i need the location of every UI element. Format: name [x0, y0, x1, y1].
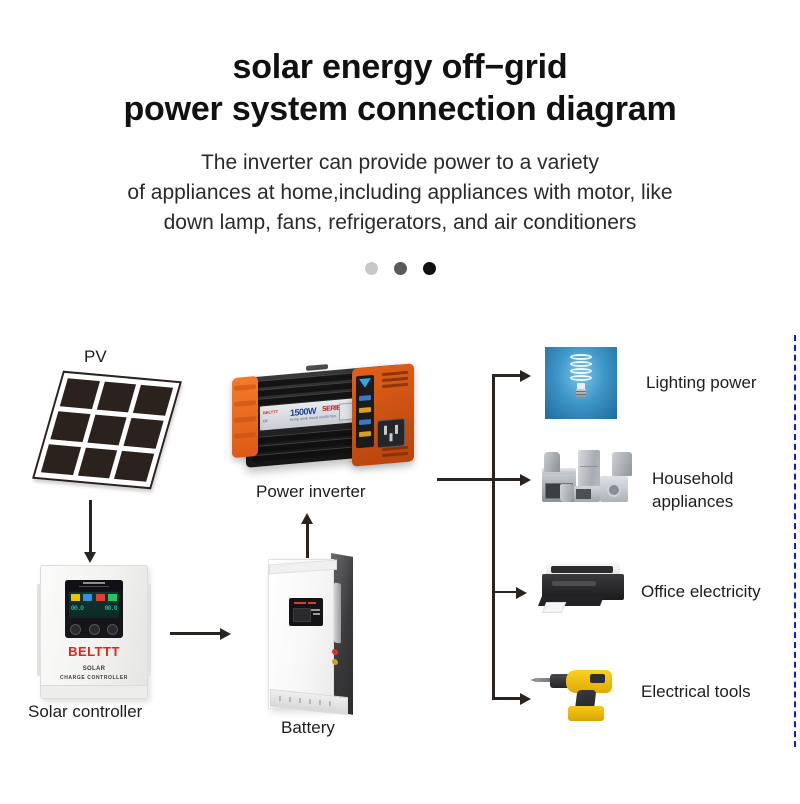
bus-to-lighting-arrowhead	[520, 370, 531, 382]
inverter-vent	[382, 377, 408, 382]
inverter-switch[interactable]	[359, 419, 371, 425]
controller-lcd-value-row: 00.0 00.0	[71, 605, 117, 612]
controller-button-row	[70, 624, 118, 635]
pv-solar-panel-icon	[38, 372, 188, 497]
pagination-dot-3[interactable]	[423, 262, 436, 275]
controller-lcd-solar-icon	[71, 594, 80, 601]
right-edge-dashed-divider	[794, 335, 796, 747]
controller-lcd-flow-icon	[83, 594, 92, 601]
battery-label: Battery	[281, 718, 335, 738]
pv-cell	[60, 378, 100, 409]
pagination-dot-2[interactable]	[394, 262, 407, 275]
inverter-vent	[382, 452, 408, 457]
bus-to-household-arrowhead	[520, 474, 531, 486]
battery-to-inverter-wire	[306, 524, 309, 558]
inverter-ac-outlet	[377, 418, 405, 448]
page-title-line-1: solar energy off−grid	[0, 46, 800, 88]
controller-lcd-left-value: 00.0	[71, 605, 83, 612]
controller-lcd: 00.0 00.0	[69, 592, 119, 618]
pagination-dot-1[interactable]	[365, 262, 378, 275]
solar-controller-label: Solar controller	[28, 702, 142, 722]
pv-to-controller-arrowhead	[84, 552, 96, 563]
controller-display: 00.0 00.0	[65, 580, 123, 638]
controller-display-brandmark	[83, 582, 105, 584]
controller-base	[41, 685, 147, 698]
drill-vent	[590, 674, 605, 683]
drill-battery-pack	[568, 706, 604, 721]
controller-lcd-load-icon	[108, 594, 117, 601]
battery-terminal-rail	[334, 582, 341, 643]
page-subtitle: The inverter can provide power to a vari…	[0, 148, 800, 238]
battery-to-inverter-arrowhead	[301, 513, 313, 524]
output-household-appliances-label-line-1: Household	[652, 467, 733, 490]
page-title-line-2: power system connection diagram	[0, 88, 800, 130]
controller-subtext-line-1: SOLAR	[41, 666, 147, 672]
inverter-vent	[382, 383, 408, 388]
page-subtitle-line-3: down lamp, fans, refrigerators, and air …	[0, 208, 800, 238]
output-household-appliances-label: Household appliances	[652, 467, 733, 513]
inverter-fuse[interactable]	[359, 407, 371, 413]
kettle-graphic	[560, 484, 573, 502]
slide-canvas: solar energy off−grid power system conne…	[0, 0, 800, 804]
battery-status-led-right	[308, 602, 316, 604]
controller-left-button[interactable]	[70, 624, 81, 635]
controller-enter-button[interactable]	[89, 624, 100, 635]
pv-cell	[50, 411, 90, 442]
bus-to-office-wire	[492, 591, 518, 593]
output-lighting-power-label: Lighting power	[646, 371, 757, 394]
pv-cell	[124, 418, 164, 449]
printer-icon	[540, 562, 626, 616]
controller-lcd-battery-icon	[96, 594, 105, 601]
inverter-indicator-icon	[359, 378, 371, 388]
printer-input-tray	[551, 566, 613, 573]
inverter-usb-port[interactable]	[359, 395, 371, 401]
distribution-bus-vertical	[492, 374, 495, 700]
inverter-to-bus-wire	[437, 478, 495, 481]
pv-label: PV	[84, 347, 107, 367]
washing-machine-graphic	[600, 476, 628, 502]
pv-cell	[41, 444, 81, 475]
food-mixer-graphic	[612, 452, 632, 476]
solar-controller-device: 00.0 00.0 BELTTT SOLAR CHARGE CONTROLLER	[40, 565, 148, 699]
bus-to-tools-arrowhead	[520, 693, 531, 705]
power-drill-icon	[540, 660, 636, 722]
power-inverter-label: Power inverter	[256, 482, 366, 502]
battery-top-cap	[269, 560, 337, 575]
pv-cell	[114, 451, 154, 482]
pv-to-controller-wire	[89, 500, 92, 554]
page-title: solar energy off−grid power system conne…	[0, 46, 800, 130]
bus-to-office-arrowhead	[516, 587, 527, 599]
printer-paper-sheet	[542, 602, 566, 613]
pv-cell	[133, 385, 173, 416]
pv-cell	[87, 415, 127, 446]
controller-to-battery-arrowhead	[220, 628, 231, 640]
battery-status-led-left	[294, 602, 306, 604]
inverter-label-certmark: CE	[263, 419, 268, 423]
controller-to-battery-wire	[170, 632, 222, 635]
controller-lcd-icon-row	[71, 594, 117, 601]
bus-to-tools-wire	[492, 697, 522, 700]
controller-display-subtext	[79, 586, 109, 587]
battery-display-text-1	[311, 609, 320, 611]
inverter-fuse[interactable]	[359, 431, 371, 437]
pv-cell	[97, 382, 137, 413]
household-appliances-icon	[540, 450, 640, 510]
page-subtitle-line-1: The inverter can provide power to a vari…	[0, 148, 800, 178]
printer-output-slot	[552, 581, 596, 586]
output-office-electricity-label: Office electricity	[641, 580, 761, 603]
battery-display	[289, 598, 323, 626]
battery-display-text-2	[313, 613, 320, 615]
bus-to-lighting-wire	[492, 374, 522, 377]
light-bulb-icon	[545, 347, 617, 419]
bus-to-household-wire	[492, 478, 522, 481]
pagination-dots	[0, 262, 800, 275]
output-household-appliances-label-line-2: appliances	[652, 490, 733, 513]
inverter-control-strip	[356, 375, 374, 449]
controller-lcd-right-value: 00.0	[105, 605, 117, 612]
pv-panel-grid	[32, 371, 182, 490]
power-inverter-device: BELTTT CE 1500W SERIES PURE SINE WAVE IN…	[232, 363, 414, 473]
controller-subtext-line-2: CHARGE CONTROLLER	[41, 675, 147, 681]
controller-brand-logo: BELTTT	[41, 644, 147, 659]
inverter-vent	[382, 371, 408, 376]
controller-right-button[interactable]	[107, 624, 118, 635]
controller-display-header	[65, 580, 123, 590]
battery-cabinet	[268, 553, 358, 715]
battery-lcd	[293, 608, 311, 622]
inverter-output-panel	[352, 363, 414, 466]
battery-positive-terminal	[332, 648, 338, 655]
inverter-left-bumper	[232, 376, 258, 458]
pv-cell	[78, 448, 118, 479]
battery-negative-terminal	[332, 658, 338, 665]
output-electrical-tools-label: Electrical tools	[641, 680, 751, 703]
coffee-maker-graphic	[544, 452, 560, 472]
battery-front-panel	[268, 559, 334, 709]
cfl-bulb-graphic	[566, 354, 596, 396]
inverter-brand-logo: BELTTT	[263, 409, 278, 415]
page-subtitle-line-2: of appliances at home,including applianc…	[0, 178, 800, 208]
microwave-graphic	[574, 486, 600, 502]
